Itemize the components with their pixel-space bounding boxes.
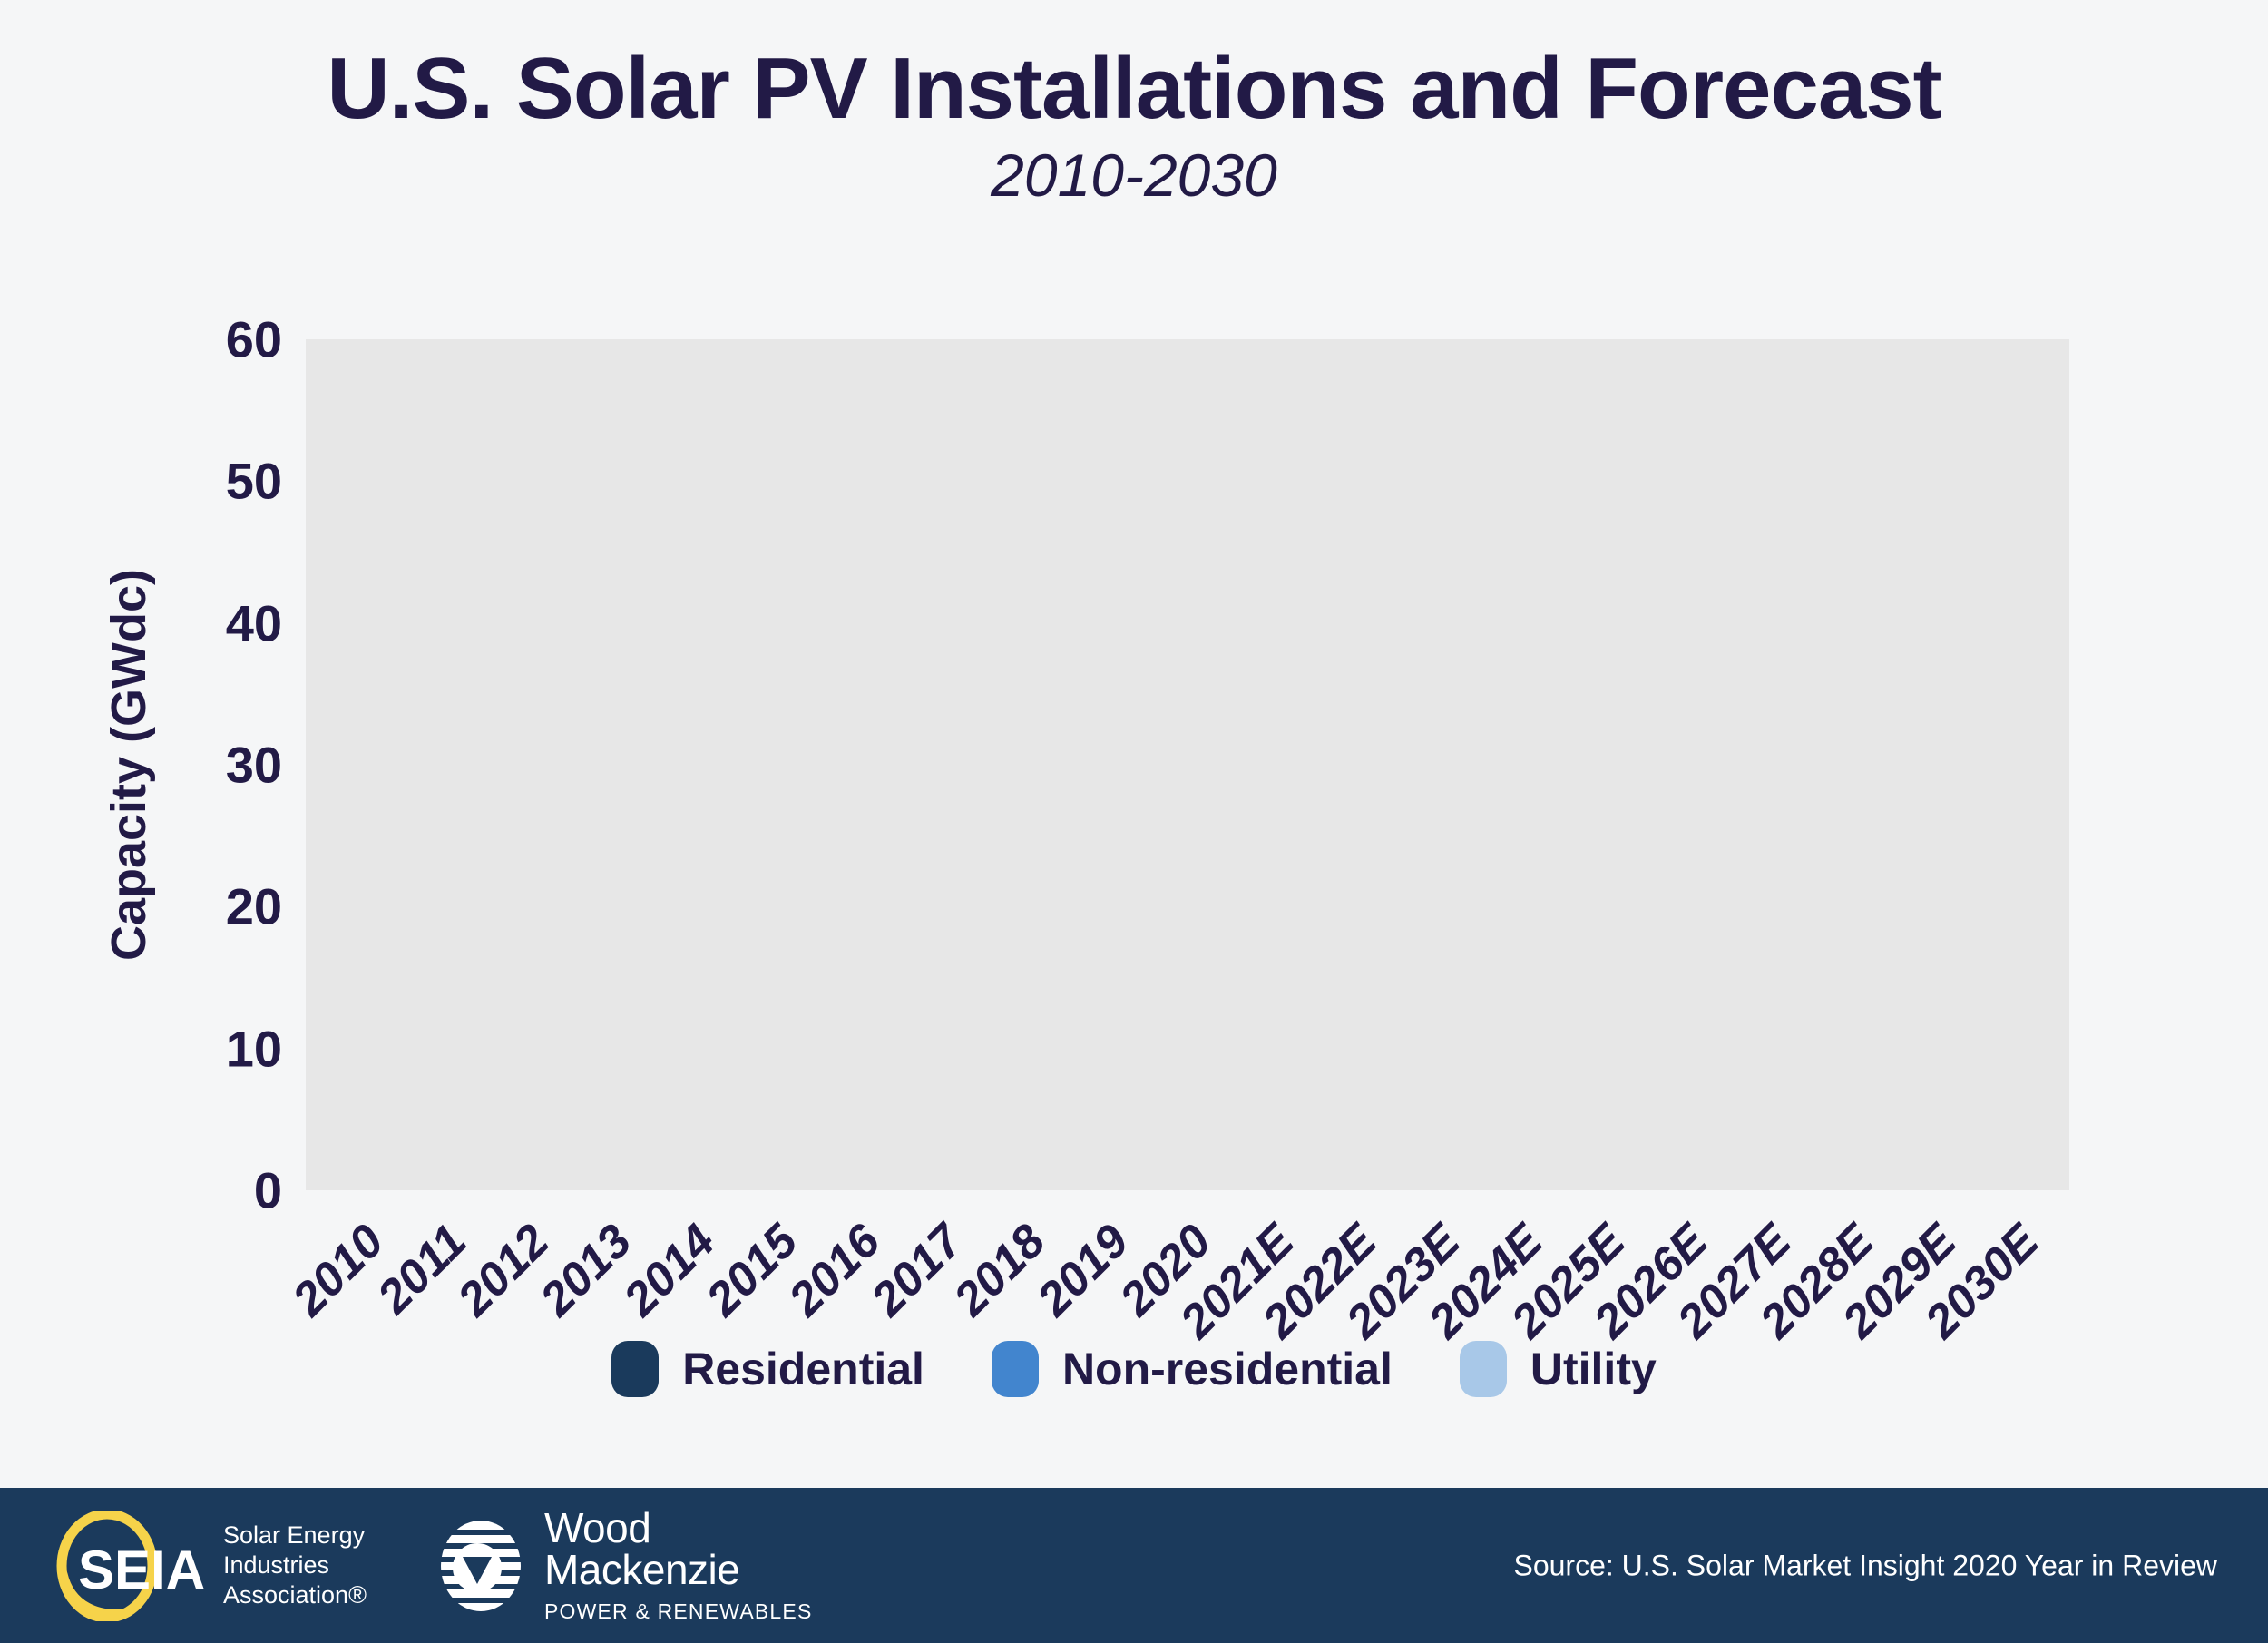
y-axis-tick-label: 0 [155,1161,282,1220]
plot-area: Capacity (GWdc) 0102030405060 [306,339,2069,1190]
wood-mackenzie-globe-icon [432,1517,530,1615]
y-axis-tick-label: 50 [155,452,282,511]
y-axis-tick-label: 10 [155,1019,282,1078]
seia-mark-icon: SEIA [51,1511,210,1621]
x-axis-tick-label: 2010 [282,1210,398,1326]
bar-column[interactable] [401,339,484,1190]
non-residential-swatch [992,1341,1039,1397]
bar-column[interactable] [650,339,732,1190]
footer-bar: SEIA Solar Energy Industries Association… [0,1488,2268,1643]
svg-text:SEIA: SEIA [78,1540,205,1600]
chart-page: U.S. Solar PV Installations and Forecast… [0,0,2268,1643]
footer-logos: SEIA Solar Energy Industries Association… [51,1507,813,1624]
bar-column[interactable] [898,339,981,1190]
wm-name-line-1: Wood [544,1507,813,1549]
y-axis-tick-label: 30 [155,736,282,795]
bar-column[interactable] [732,339,815,1190]
bar-column[interactable] [567,339,650,1190]
bar-column[interactable] [484,339,566,1190]
wood-mackenzie-wordmark: Wood Mackenzie POWER & RENEWABLES [544,1507,813,1624]
legend-item[interactable]: Residential [611,1341,924,1397]
bar-column[interactable] [1808,339,1891,1190]
bar-column[interactable] [1560,339,1643,1190]
seia-wordmark-text: Solar Energy Industries Association® [223,1521,367,1610]
legend-label: Utility [1530,1343,1657,1395]
utility-swatch [1460,1341,1507,1397]
source-note: Source: U.S. Solar Market Insight 2020 Y… [1513,1549,2217,1582]
seia-logo: SEIA Solar Energy Industries Association… [51,1511,367,1621]
bar-series-container [306,339,2069,1190]
page-subtitle: 2010-2030 [0,135,2268,207]
bar-column[interactable] [1891,339,1973,1190]
legend-label: Non-residential [1062,1343,1393,1395]
seia-line-2: Industries [223,1550,367,1580]
y-axis-title: Capacity (GWdc) [101,511,157,1019]
seia-line-1: Solar Energy [223,1521,367,1550]
y-axis-tick-label: 40 [155,593,282,652]
bar-column[interactable] [1643,339,1725,1190]
bar-column[interactable] [1394,339,1477,1190]
wm-tagline: POWER & RENEWABLES [544,1590,813,1624]
y-axis-tick-label: 20 [155,877,282,936]
bar-column[interactable] [1477,339,1559,1190]
chart-legend: ResidentialNon-residentialUtility [0,1341,2268,1397]
residential-swatch [611,1341,659,1397]
y-axis-tick-label: 60 [155,310,282,369]
x-axis-ticks: 2010201120122013201420152016201720182019… [306,1190,2069,1345]
bar-column[interactable] [1974,339,2057,1190]
legend-item[interactable]: Non-residential [992,1341,1393,1397]
bar-column[interactable] [1312,339,1394,1190]
wood-mackenzie-logo: Wood Mackenzie POWER & RENEWABLES [432,1507,813,1624]
bar-column[interactable] [1146,339,1228,1190]
bar-column[interactable] [1229,339,1312,1190]
legend-label: Residential [682,1343,924,1395]
chart-header: U.S. Solar PV Installations and Forecast… [0,0,2268,207]
wm-name-line-2: Mackenzie [544,1549,813,1590]
legend-item[interactable]: Utility [1460,1341,1657,1397]
bar-column[interactable] [1725,339,1808,1190]
bar-column[interactable] [981,339,1063,1190]
page-title: U.S. Solar PV Installations and Forecast [0,0,2268,135]
seia-line-3: Association® [223,1580,367,1610]
bar-column[interactable] [318,339,401,1190]
bar-column[interactable] [1063,339,1146,1190]
x-axis-tick-cell: 2030E [1974,1190,2057,1345]
bar-column[interactable] [815,339,897,1190]
